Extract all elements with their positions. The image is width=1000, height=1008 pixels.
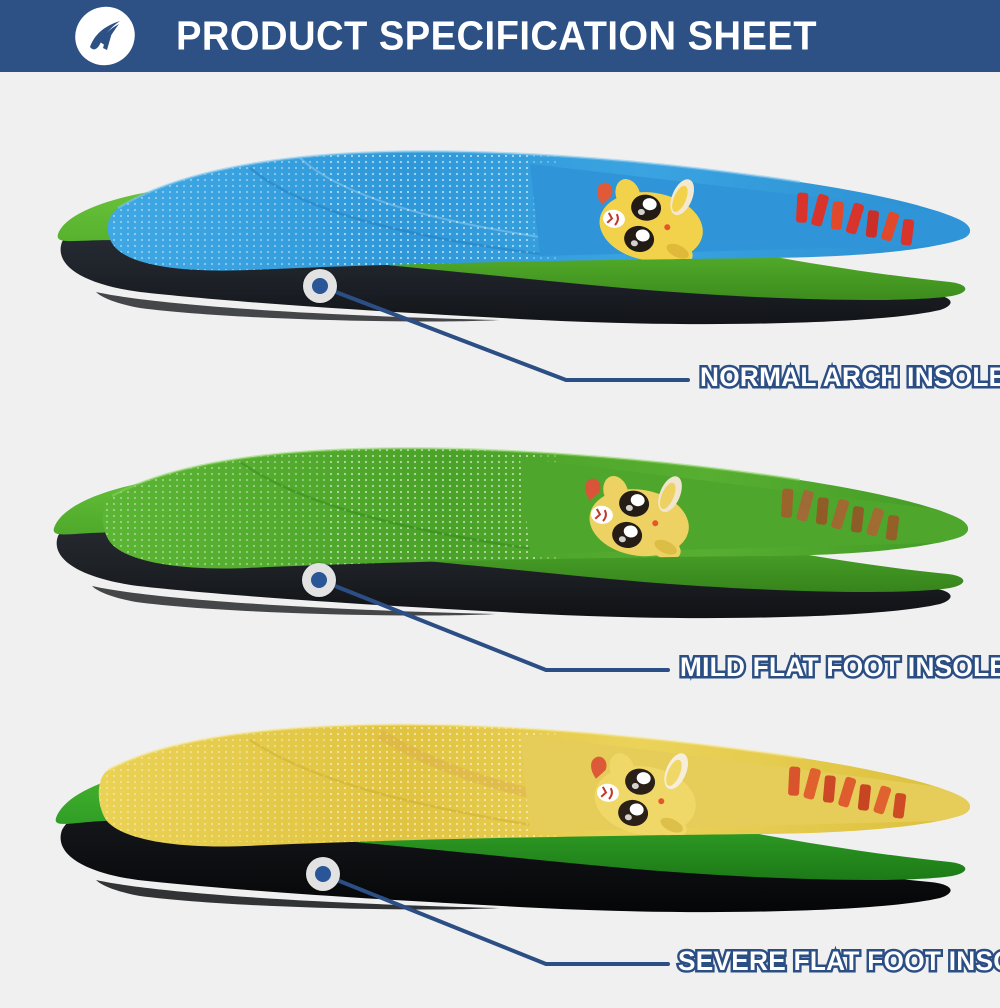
insole-item-severe-flat-foot: SEVERE FLAT FOOT INSOLE SEVERE FLAT FOOT… [0, 708, 1000, 1008]
callout-marker-severe-flat-foot[interactable] [306, 857, 340, 891]
marker-core [315, 866, 331, 882]
insole-item-mild-flat-foot: MILD FLAT FOOT INSOLE MILD FLAT FOOT INS… [0, 424, 1000, 724]
insole-item-normal-arch: NORMAL ARCH INSOLE NORMAL ARCH INSOLE [0, 124, 1000, 424]
callout-marker-normal-arch[interactable] [303, 269, 337, 303]
insole-label-normal-arch: NORMAL ARCH INSOLE [700, 362, 1000, 393]
page-header: PRODUCT SPECIFICATION SHEET [0, 0, 1000, 72]
insole-image-severe-flat-foot [0, 708, 1000, 938]
wing-swoosh-logo-icon [64, 4, 146, 68]
callout-marker-mild-flat-foot[interactable] [302, 563, 336, 597]
insole-image-normal-arch [0, 124, 1000, 354]
brand-logo [64, 4, 146, 68]
insole-label-severe-flat-foot: SEVERE FLAT FOOT INSOLE [678, 946, 1000, 977]
marker-core [311, 572, 327, 588]
insole-image-mild-flat-foot [0, 424, 1000, 654]
spec-sheet-body: NORMAL ARCH INSOLE NORMAL ARCH INSOLE [0, 72, 1000, 1000]
marker-core [312, 278, 328, 294]
page-title: PRODUCT SPECIFICATION SHEET [176, 13, 817, 60]
insole-label-mild-flat-foot: MILD FLAT FOOT INSOLE [680, 652, 1000, 683]
